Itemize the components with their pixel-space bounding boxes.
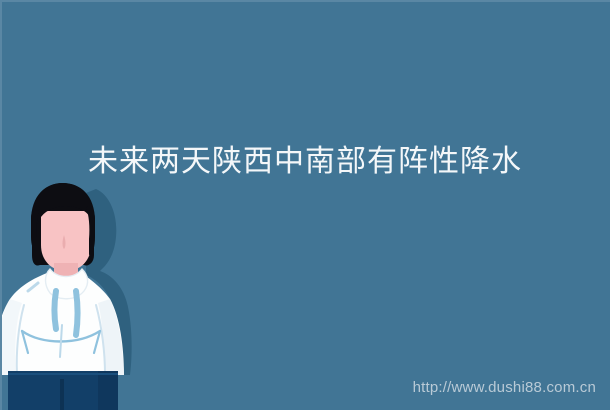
watermark-url: http://www.dushi88.com.cn [413, 379, 596, 397]
headline-text: 未来两天陕西中南部有阵性降水 [0, 143, 610, 181]
pants-shadow-right [98, 371, 118, 410]
drawstring-right [76, 291, 78, 335]
image-canvas: 未来两天陕西中南部有阵性降水 http://www.dushi88.com.cn [0, 0, 610, 410]
drawstring-left [55, 291, 57, 329]
person-illustration [0, 175, 175, 410]
